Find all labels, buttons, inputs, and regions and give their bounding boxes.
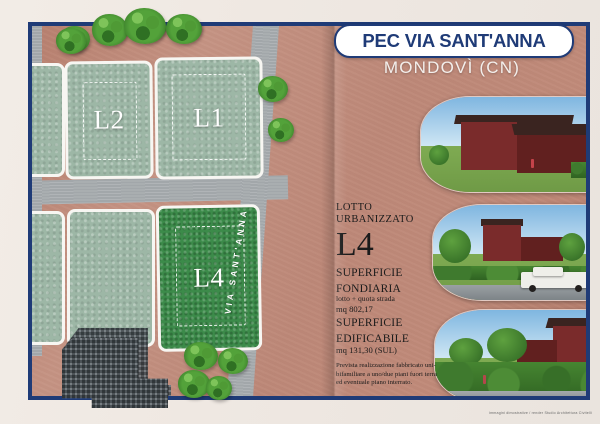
lot-unlabeled-lower-middle[interactable] xyxy=(70,212,152,344)
photo-truck-wheel xyxy=(575,285,582,292)
tree-icon-overflow xyxy=(92,14,128,46)
tree-icon-overflow xyxy=(166,14,202,44)
photo-house-wing xyxy=(521,237,563,261)
tree-icon xyxy=(439,229,471,263)
brochure-page: L2 L1 L4 xyxy=(0,0,600,424)
lot-info-block: LOTTO URBANIZZATO L4 SUPERFICIE FONDIARI… xyxy=(336,202,440,387)
title-banner: PEC VIA SANT'ANNA xyxy=(334,24,574,58)
lot-unlabeled-upper-left[interactable] xyxy=(32,66,62,174)
photo-road xyxy=(435,391,586,396)
kicker-line-2: URBANIZZATO xyxy=(336,214,440,226)
lot-unlabeled-lower-left[interactable] xyxy=(32,214,62,342)
render-photo-garden-view[interactable] xyxy=(434,309,586,396)
document-title: PEC VIA SANT'ANNA xyxy=(362,30,545,52)
image-credit: immagini dimostrative / render Studio Ar… xyxy=(489,411,592,415)
photo-person xyxy=(531,159,534,168)
lot-label-L1: L1 xyxy=(158,104,260,132)
lot-L1[interactable]: L1 xyxy=(157,59,260,176)
surface-fondiaria-note: lotto + quota strada xyxy=(336,295,440,304)
document-subtitle: MONDOVÌ (CN) xyxy=(334,58,570,78)
tree-icon xyxy=(268,118,294,142)
surface-edificabile-line-2: EDIFICABILE xyxy=(336,333,440,345)
lot-texture xyxy=(70,212,152,344)
tree-icon-overflow xyxy=(124,8,166,44)
surface-fondiaria-line-1: SUPERFICIE xyxy=(336,267,440,279)
photo-house xyxy=(483,225,521,261)
tree-icon xyxy=(184,342,218,370)
tree-icon xyxy=(218,348,248,374)
photo-house xyxy=(461,122,517,170)
photo-roof-wing xyxy=(512,124,586,135)
photo-hedge xyxy=(571,162,586,178)
lot-code-heading: L4 xyxy=(336,229,440,262)
kicker-line-1: LOTTO xyxy=(336,202,440,214)
lot-texture xyxy=(32,66,62,174)
lot-label-L4: L4 xyxy=(160,264,258,293)
tree-icon xyxy=(258,76,288,102)
render-photo-street-with-pickup[interactable] xyxy=(432,204,586,301)
right-page: LOTTO URBANIZZATO L4 SUPERFICIE FONDIARI… xyxy=(324,26,586,396)
photo-truck-wheel xyxy=(529,285,536,292)
tree-icon-overflow xyxy=(206,376,232,400)
lot-texture xyxy=(32,214,62,342)
surface-edificabile-value: mq 131,30 (SUL) xyxy=(336,345,440,355)
photo-person xyxy=(483,375,486,384)
surface-edificabile-line-1: SUPERFICIE xyxy=(336,317,440,329)
tree-icon xyxy=(559,233,585,261)
tree-icon xyxy=(429,145,449,165)
photo-pickup-cab xyxy=(533,267,563,276)
render-photo-villa-front[interactable] xyxy=(420,96,586,193)
tree-icon-overflow xyxy=(178,370,210,398)
building-note: Prevista realizzazione fabbricato uni-bi… xyxy=(336,362,440,387)
tree-icon xyxy=(487,328,527,362)
tree-icon-overflow xyxy=(56,28,86,54)
surface-fondiaria-value: mq 802,17 xyxy=(336,304,440,314)
lot-L2[interactable]: L2 xyxy=(67,64,150,177)
lot-label-L2: L2 xyxy=(68,106,150,134)
